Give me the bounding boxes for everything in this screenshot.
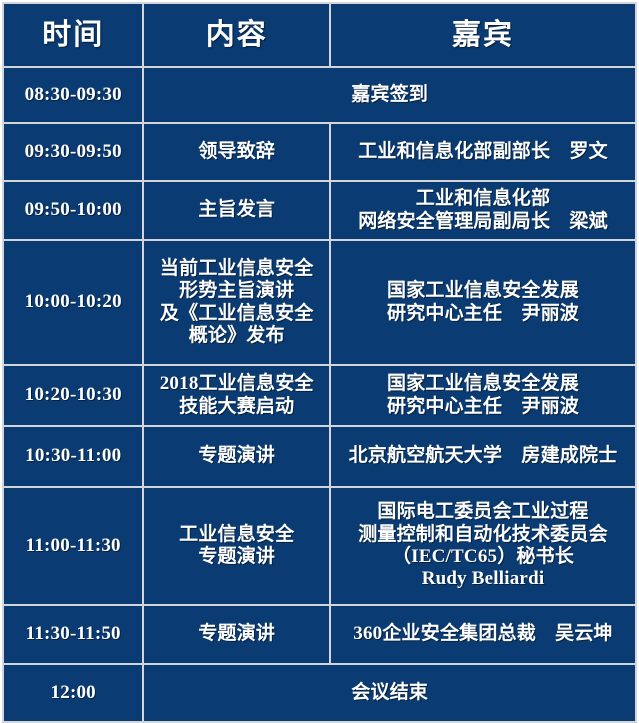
cell-text-line: 工业和信息化部 xyxy=(335,188,631,210)
column-header-time: 时间 xyxy=(3,3,143,67)
cell-text-line: 2018工业信息安全 xyxy=(148,373,325,395)
cell-text-line: （IEC/TC65）秘书长 xyxy=(335,546,631,568)
cell-time: 08:30-09:30 xyxy=(3,67,143,123)
cell-merged-description: 会议结束 xyxy=(143,664,636,722)
cell-text-line: 专题演讲 xyxy=(148,623,325,645)
cell-text-line: 专题演讲 xyxy=(148,445,325,467)
cell-topic: 主旨发言 xyxy=(143,181,330,240)
cell-text-lines: 工业和信息化部副部长 罗文 xyxy=(335,141,631,163)
cell-topic: 专题演讲 xyxy=(143,426,330,487)
cell-text-lines: 当前工业信息安全形势主旨演讲及《工业信息安全概论》发布 xyxy=(148,258,325,348)
cell-text-lines: 360企业安全集团总裁 吴云坤 xyxy=(335,623,631,645)
cell-topic: 当前工业信息安全形势主旨演讲及《工业信息安全概论》发布 xyxy=(143,240,330,365)
cell-guest: 国家工业信息安全发展研究中心主任 尹丽波 xyxy=(330,365,636,426)
cell-time: 11:30-11:50 xyxy=(3,605,143,664)
cell-text-line: 概论》发布 xyxy=(148,325,325,347)
cell-time: 10:00-10:20 xyxy=(3,240,143,365)
cell-topic: 2018工业信息安全技能大赛启动 xyxy=(143,365,330,426)
table-row: 10:20-10:302018工业信息安全技能大赛启动国家工业信息安全发展研究中… xyxy=(3,365,636,426)
cell-time: 10:20-10:30 xyxy=(3,365,143,426)
cell-text-line: 360企业安全集团总裁 吴云坤 xyxy=(335,623,631,645)
cell-time: 12:00 xyxy=(3,664,143,722)
cell-guest: 国家工业信息安全发展研究中心主任 尹丽波 xyxy=(330,240,636,365)
cell-text-line: 研究中心主任 尹丽波 xyxy=(335,396,631,418)
cell-text-line: 国家工业信息安全发展 xyxy=(335,280,631,302)
cell-text-lines: 主旨发言 xyxy=(148,199,325,221)
cell-topic: 专题演讲 xyxy=(143,605,330,664)
table-header: 时间 内容 嘉宾 xyxy=(3,3,636,67)
cell-text-line: 研究中心主任 尹丽波 xyxy=(335,303,631,325)
cell-text-lines: 专题演讲 xyxy=(148,445,325,467)
cell-text-line: 当前工业信息安全 xyxy=(148,258,325,280)
cell-text-lines: 国际电工委员会工业过程测量控制和自动化技术委员会（IEC/TC65）秘书长Rud… xyxy=(335,501,631,591)
column-header-topic: 内容 xyxy=(143,3,330,67)
table-row: 09:30-09:50领导致辞工业和信息化部副部长 罗文 xyxy=(3,123,636,181)
table-header-row: 时间 内容 嘉宾 xyxy=(3,3,636,67)
cell-topic: 工业信息安全专题演讲 xyxy=(143,487,330,605)
cell-time: 09:30-09:50 xyxy=(3,123,143,181)
cell-text-lines: 专题演讲 xyxy=(148,623,325,645)
cell-text-line: 形势主旨演讲 xyxy=(148,280,325,302)
cell-text-lines: 工业和信息化部网络安全管理局副局长 梁斌 xyxy=(335,188,631,233)
cell-text-lines: 国家工业信息安全发展研究中心主任 尹丽波 xyxy=(335,373,631,418)
cell-guest: 360企业安全集团总裁 吴云坤 xyxy=(330,605,636,664)
cell-guest: 工业和信息化部副部长 罗文 xyxy=(330,123,636,181)
table-row: 09:50-10:00主旨发言工业和信息化部网络安全管理局副局长 梁斌 xyxy=(3,181,636,240)
cell-guest: 北京航空航天大学 房建成院士 xyxy=(330,426,636,487)
cell-text-lines: 国家工业信息安全发展研究中心主任 尹丽波 xyxy=(335,280,631,325)
cell-text-line: 技能大赛启动 xyxy=(148,396,325,418)
cell-text-line: 专题演讲 xyxy=(148,546,325,568)
cell-time: 09:50-10:00 xyxy=(3,181,143,240)
cell-text-line: 及《工业信息安全 xyxy=(148,303,325,325)
cell-merged-description: 嘉宾签到 xyxy=(143,67,636,123)
cell-text-line: 国际电工委员会工业过程 xyxy=(335,501,631,523)
cell-text-lines: 领导致辞 xyxy=(148,141,325,163)
cell-text-line: 网络安全管理局副局长 梁斌 xyxy=(335,211,631,233)
table-body: 08:30-09:30嘉宾签到09:30-09:50领导致辞工业和信息化部副部长… xyxy=(3,67,636,722)
cell-text-line: 工业和信息化部副部长 罗文 xyxy=(335,141,631,163)
cell-text-line: 领导致辞 xyxy=(148,141,325,163)
table-row: 11:30-11:50专题演讲360企业安全集团总裁 吴云坤 xyxy=(3,605,636,664)
cell-text-line: Rudy Belliardi xyxy=(335,568,631,590)
cell-guest: 国际电工委员会工业过程测量控制和自动化技术委员会（IEC/TC65）秘书长Rud… xyxy=(330,487,636,605)
table-row: 10:00-10:20当前工业信息安全形势主旨演讲及《工业信息安全概论》发布国家… xyxy=(3,240,636,365)
table-row: 10:30-11:00专题演讲北京航空航天大学 房建成院士 xyxy=(3,426,636,487)
conference-agenda-table: 时间 内容 嘉宾 08:30-09:30嘉宾签到09:30-09:50领导致辞工… xyxy=(2,2,637,723)
agenda-container: 时间 内容 嘉宾 08:30-09:30嘉宾签到09:30-09:50领导致辞工… xyxy=(0,0,639,694)
cell-text-lines: 2018工业信息安全技能大赛启动 xyxy=(148,373,325,418)
cell-text-lines: 工业信息安全专题演讲 xyxy=(148,524,325,569)
cell-text-lines: 北京航空航天大学 房建成院士 xyxy=(335,445,631,467)
cell-text-line: 测量控制和自动化技术委员会 xyxy=(335,524,631,546)
table-row: 12:00会议结束 xyxy=(3,664,636,722)
column-header-guest: 嘉宾 xyxy=(330,3,636,67)
cell-text-line: 主旨发言 xyxy=(148,199,325,221)
cell-topic: 领导致辞 xyxy=(143,123,330,181)
cell-text-line: 北京航空航天大学 房建成院士 xyxy=(335,445,631,467)
cell-guest: 工业和信息化部网络安全管理局副局长 梁斌 xyxy=(330,181,636,240)
cell-text-line: 工业信息安全 xyxy=(148,524,325,546)
cell-time: 11:00-11:30 xyxy=(3,487,143,605)
cell-text-line: 国家工业信息安全发展 xyxy=(335,373,631,395)
table-row: 08:30-09:30嘉宾签到 xyxy=(3,67,636,123)
cell-time: 10:30-11:00 xyxy=(3,426,143,487)
table-row: 11:00-11:30工业信息安全专题演讲国际电工委员会工业过程测量控制和自动化… xyxy=(3,487,636,605)
